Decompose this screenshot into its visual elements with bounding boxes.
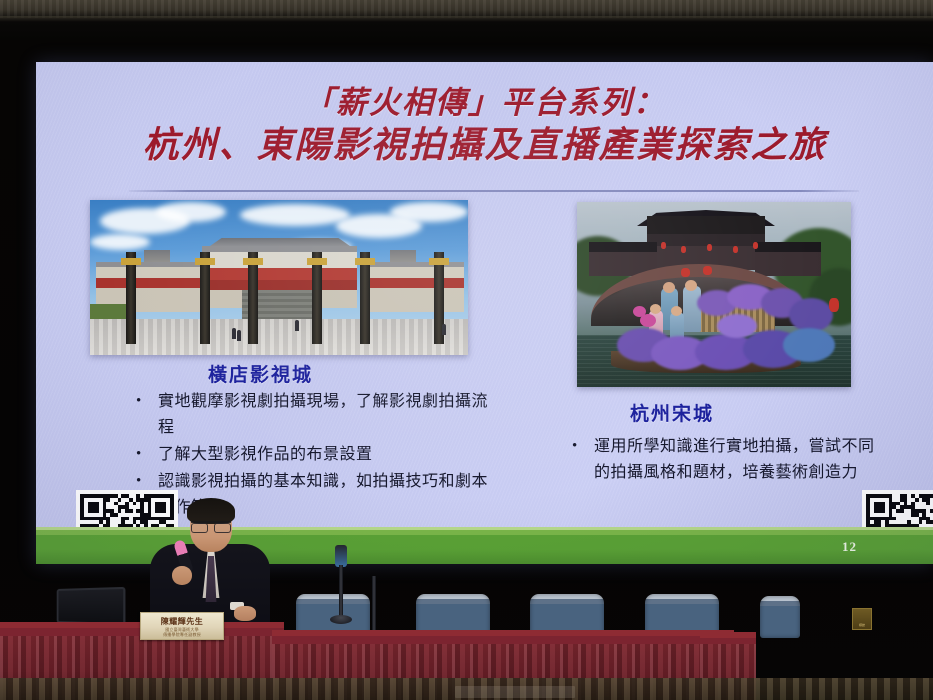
bullets-right-column: 運用所學知識進行實地拍攝，嘗試不同的拍攝風格和題材，培養藝術創造力 xyxy=(566,434,876,487)
floor-paper-sign xyxy=(455,686,575,698)
cloud-shape xyxy=(240,204,350,226)
ceremonial-pillar xyxy=(312,252,322,344)
figure-head xyxy=(671,306,682,316)
slide-title: 「薪火相傳」平台系列： 杭州、東陽影視拍攝及直播產業探索之旅 xyxy=(36,84,933,167)
figure-head xyxy=(663,282,675,293)
name-placard: 陳耀輝先生 國立臺灣藝術大學 傳播學院專任副教授 xyxy=(140,612,224,640)
microphone-stem xyxy=(339,565,343,619)
cloud-shape xyxy=(156,202,226,222)
ceremonial-pillar xyxy=(360,252,370,344)
figure-head xyxy=(650,304,661,314)
eyeglasses xyxy=(191,521,231,530)
desk-microphone-secondary xyxy=(363,556,383,622)
photo-hangzhou-songcheng xyxy=(577,202,851,387)
placard-subtitle-2: 傳播學院專任副教授 xyxy=(163,632,201,637)
flower-cluster xyxy=(717,314,757,338)
figure-head xyxy=(685,280,697,291)
ceremonial-pillar xyxy=(126,252,136,344)
bullet-item: 實地觀摩影視劇拍攝現場，了解影視劇拍攝流程 xyxy=(130,389,500,441)
cloud-shape xyxy=(390,202,468,222)
ceremonial-pillar xyxy=(248,252,258,344)
bridge-decoration xyxy=(681,268,690,277)
floor-strip xyxy=(0,678,933,700)
microphone-base xyxy=(330,615,352,624)
caption-songcheng: 杭州宋城 xyxy=(630,399,714,426)
visitor-figure xyxy=(237,330,241,341)
visitor-figure xyxy=(442,324,446,335)
red-lantern xyxy=(707,244,712,251)
slide-page-number: 12 xyxy=(842,539,857,555)
red-lantern xyxy=(829,298,839,312)
flower-cluster xyxy=(783,328,835,362)
microphone-capsule xyxy=(335,545,347,567)
bullet-item: 運用所學知識進行實地拍攝，嘗試不同的拍攝風格和題材，培養藝術創造力 xyxy=(566,434,876,486)
resting-hand xyxy=(234,606,256,621)
pink-parasol xyxy=(640,314,656,327)
photo-hengdian-film-city xyxy=(90,200,468,355)
red-lantern xyxy=(733,246,738,253)
ceiling-strip xyxy=(0,0,933,18)
ceremonial-pillar xyxy=(200,252,210,344)
presentation-room-photo: 「薪火相傳」平台系列： 杭州、東陽影視拍攝及直播產業探索之旅 xyxy=(0,0,933,700)
chair xyxy=(760,596,800,638)
visitor-figure xyxy=(295,320,299,331)
hand-holding-mic xyxy=(172,566,192,585)
laptop-screen xyxy=(57,587,126,625)
bridge-gallery-right xyxy=(755,242,821,276)
wall-plaque: 標誌 xyxy=(852,608,872,630)
microphone-stem xyxy=(372,576,376,630)
title-underline xyxy=(129,190,859,192)
flower-cluster xyxy=(789,298,833,332)
slide-title-line2: 杭州、東陽影視拍攝及直播產業探索之旅 xyxy=(36,123,933,167)
cloud-shape xyxy=(90,234,150,250)
projected-slide: 「薪火相傳」平台系列： 杭州、東陽影視拍攝及直播產業探索之旅 xyxy=(36,62,933,564)
right-wing-building xyxy=(360,262,464,312)
slide-title-line1: 「薪火相傳」平台系列： xyxy=(36,84,933,122)
placard-name: 陳耀輝先生 xyxy=(161,616,204,627)
bullet-item: 了解大型影視作品的布景設置 xyxy=(130,442,500,468)
desk-microphone xyxy=(330,545,352,625)
red-lantern xyxy=(681,246,686,253)
red-lantern xyxy=(753,242,758,249)
bridge-decoration xyxy=(703,266,712,275)
wall-plaque-label: 標誌 xyxy=(859,623,865,629)
paved-plaza xyxy=(90,319,468,355)
visitor-figure xyxy=(232,328,236,339)
red-lantern xyxy=(661,242,666,249)
caption-hengdian: 橫店影視城 xyxy=(208,360,313,387)
